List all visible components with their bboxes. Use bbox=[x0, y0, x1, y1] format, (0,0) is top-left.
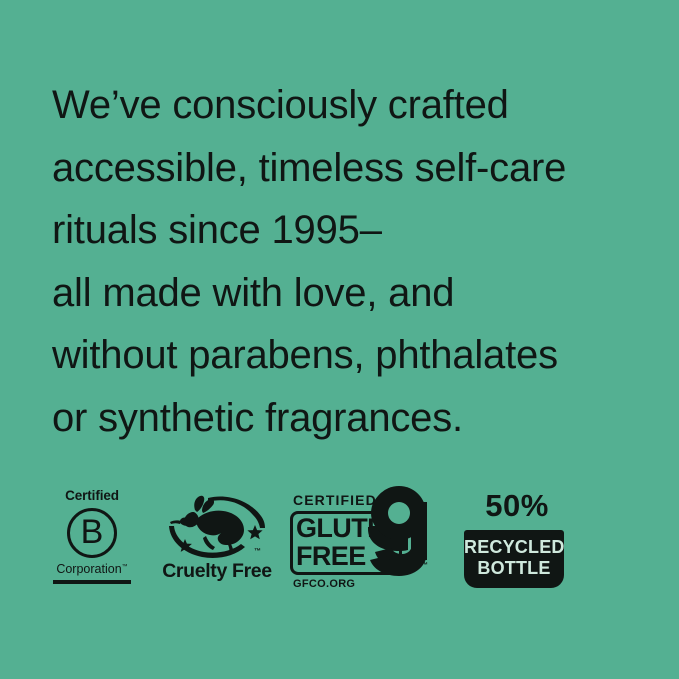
headline-line-3: rituals since 1995– bbox=[52, 199, 652, 262]
cruelty-free-trademark-icon: ™ bbox=[254, 548, 261, 555]
b-corp-underline-rule bbox=[53, 580, 131, 584]
headline-line-6: or synthetic fragrances. bbox=[52, 387, 652, 450]
badge-recycled-bottle: 50% RECYCLED BOTTLE bbox=[462, 488, 572, 598]
headline-copy: We’ve consciously crafted accessible, ti… bbox=[52, 74, 652, 449]
b-corp-circle-icon: B bbox=[67, 508, 117, 558]
headline-line-4: all made with love, and bbox=[52, 262, 652, 325]
b-corp-corporation-label: Corporation™ bbox=[44, 560, 140, 577]
certification-badge-row: Certified B Corporation™ bbox=[44, 488, 644, 598]
gluten-free-logo: CERTIFIED GLUTEN FREE bbox=[290, 490, 438, 594]
recycled-bottle-plaque: RECYCLED BOTTLE bbox=[464, 530, 564, 588]
recycled-bottle-line-2: BOTTLE bbox=[464, 558, 564, 579]
b-corp-corporation-text: Corporation bbox=[56, 562, 121, 576]
b-corp-letter: B bbox=[81, 515, 104, 549]
cruelty-free-label: Cruelty Free bbox=[158, 560, 276, 582]
headline-line-5: without parabens, phthalates bbox=[52, 324, 652, 387]
headline-line-1: We’ve consciously crafted bbox=[52, 74, 652, 137]
b-corp-logo: Certified B Corporation™ bbox=[44, 488, 140, 584]
badge-cruelty-free: ™ Cruelty Free bbox=[158, 488, 276, 598]
badge-b-corporation: Certified B Corporation™ bbox=[44, 488, 140, 598]
gluten-free-trademark-icon: ™ bbox=[421, 562, 428, 569]
gluten-free-url-label: GFCO.ORG bbox=[293, 578, 355, 591]
gluten-free-certified-label: CERTIFIED bbox=[293, 492, 377, 508]
headline-line-2: accessible, timeless self-care bbox=[52, 137, 652, 200]
badge-certified-gluten-free: CERTIFIED GLUTEN FREE bbox=[290, 488, 438, 598]
recycled-bottle-percent: 50% bbox=[462, 488, 572, 524]
recycled-bottle-line-1: RECYCLED bbox=[464, 537, 564, 558]
b-corp-trademark-icon: ™ bbox=[122, 564, 128, 570]
b-corp-certified-label: Certified bbox=[44, 488, 140, 504]
brand-statement-card: We’ve consciously crafted accessible, ti… bbox=[0, 0, 679, 679]
